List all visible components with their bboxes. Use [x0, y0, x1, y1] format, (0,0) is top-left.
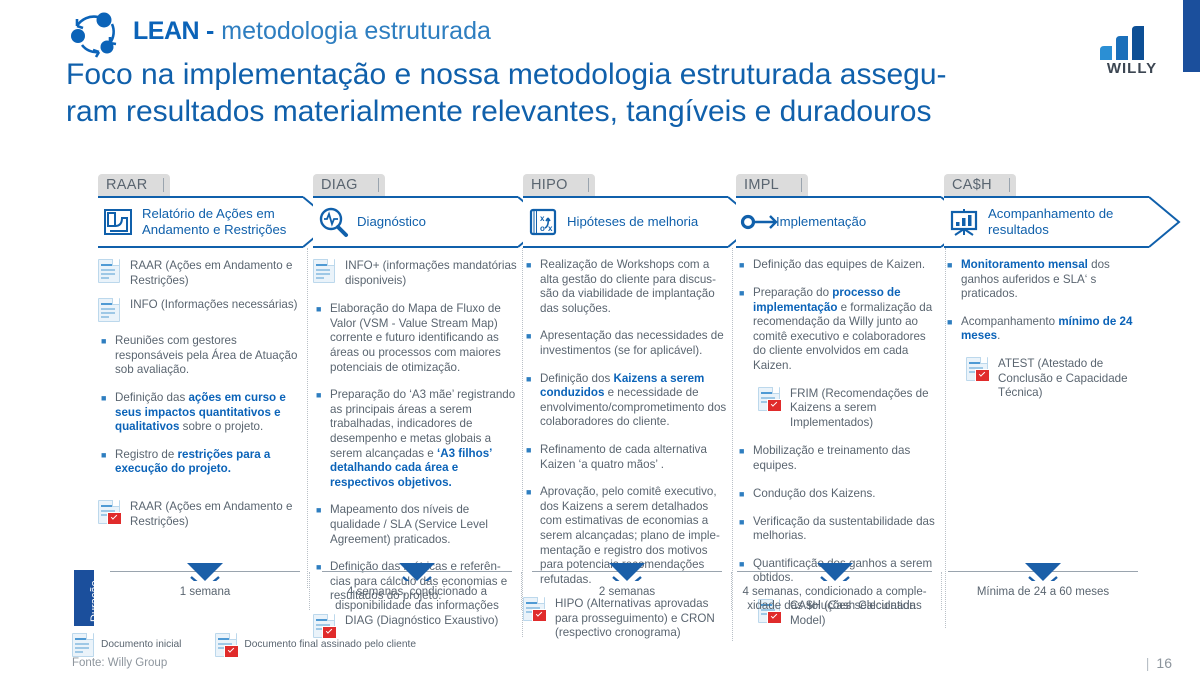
document-signed-icon	[758, 386, 782, 410]
phase-tab-hipo[interactable]: HIPO	[523, 174, 595, 196]
document-label: INFO (Informações necessárias)	[130, 297, 298, 313]
phase-heading: Acompanhamento de resultados	[988, 206, 1149, 237]
duration-divider	[309, 572, 310, 610]
duration-text: 4 semanas, condicionado a disponibilidad…	[322, 585, 512, 614]
document-item: INFO+ (informações mandatórias disponive…	[313, 258, 518, 288]
document-label: HIPO (Alternativas aprovadas para prosse…	[555, 596, 728, 641]
document-item: ATEST (Atestado de Conclusão e Capacidad…	[944, 356, 1149, 401]
duration-raar: 1 semana	[110, 566, 300, 599]
page-number-separator: |	[1146, 655, 1150, 671]
bullet-text: Verificação da sustentabilidade das melh…	[753, 515, 941, 544]
legend-item-final: Documento final assinado pelo cliente	[215, 632, 416, 656]
phase-heading: Diagnóstico	[357, 214, 426, 230]
chevron-down-icon	[187, 563, 223, 581]
bullet-item: ■ Mobilização e treinamento das equipes.	[736, 444, 941, 473]
duration-text: 1 semana	[110, 585, 300, 599]
document-item: FRIM (Recomendações de Kaizens a serem I…	[736, 386, 941, 431]
document-icon	[98, 297, 122, 321]
bullet-text: Definição das equipes de Kaizen.	[753, 258, 925, 273]
bullet-item: ■ Condução dos Kaizens.	[736, 487, 941, 502]
phase-header-impl: Implementação	[736, 196, 941, 248]
bullet-marker: ■	[736, 487, 753, 502]
lean-cycle-icon	[68, 12, 123, 58]
document-icon	[72, 632, 94, 656]
phase-header-raar: Relatório de Ações em Andamento e Restri…	[98, 196, 303, 248]
kicker-dash: -	[199, 17, 221, 45]
bullet-marker: ■	[736, 515, 753, 544]
bullet-text: Monitoramento mensal dos ganhos auferido…	[961, 258, 1149, 302]
chevron-down-icon	[817, 563, 853, 581]
duration-text: 2 semanas	[532, 585, 722, 599]
document-signed-icon	[523, 596, 547, 620]
svg-text:x: x	[540, 214, 545, 223]
document-label: DIAG (Diagnóstico Exaustivo)	[345, 613, 498, 629]
bullet-marker: ■	[98, 448, 115, 477]
bullet-text: Preparação do ‘A3 mãe’ registrando as pr…	[330, 388, 518, 490]
bullet-marker: ■	[523, 258, 540, 316]
phase-tab-raar[interactable]: RAAR	[98, 174, 170, 196]
document-signed-icon	[966, 356, 990, 380]
strategy-board-icon: x o x	[527, 206, 559, 238]
bullet-item: ■ Apresentação das necessidades de inves…	[523, 329, 728, 358]
kicker-light: metodologia estruturada	[221, 17, 491, 45]
report-icon	[102, 206, 134, 238]
bullet-marker: ■	[944, 258, 961, 302]
bullet-text: Registro de restrições para a execução d…	[115, 448, 303, 477]
bullet-item: ■ Elaboração do Mapa de Fluxo de Valor (…	[313, 302, 518, 375]
document-icon	[313, 258, 337, 282]
column-divider	[732, 248, 733, 641]
bullet-text: Mobilização e treinamento das equipes.	[753, 444, 941, 473]
document-label: FRIM (Recomendações de Kaizens a serem I…	[790, 386, 941, 431]
duration-text: Mínima de 24 a 60 meses	[948, 585, 1138, 599]
phase-body-cash: ■ Monitoramento mensal dos ganhos auferi…	[944, 248, 1149, 588]
duration-divider	[941, 572, 942, 610]
bullet-text: Condução dos Kaizens.	[753, 487, 875, 502]
svg-text:WILLY: WILLY	[1107, 60, 1157, 76]
svg-text:x: x	[548, 224, 553, 233]
implementation-arrow-icon	[740, 206, 772, 238]
duration-cash: Mínima de 24 a 60 meses	[948, 566, 1138, 599]
results-chart-icon	[948, 206, 980, 238]
document-item: RAAR (Ações em Andamento e Restrições)	[98, 499, 303, 529]
phase-columns: RAAR Relatório de Ações em Andamento e R…	[0, 174, 1200, 574]
slide: LEAN - metodologia estruturada Foco na i…	[0, 0, 1200, 675]
bullet-text: Apresentação das necessidades de investi…	[540, 329, 728, 358]
column-divider	[307, 248, 308, 588]
bullet-text: Refinamento de cada alternativa Kaizen ‘…	[540, 443, 728, 472]
bullet-item: ■ Definição das equipes de Kaizen.	[736, 258, 941, 273]
bullet-marker: ■	[523, 329, 540, 358]
duration-divider	[521, 572, 522, 610]
document-item: INFO (Informações necessárias)	[98, 297, 303, 321]
bullet-marker: ■	[944, 315, 961, 344]
corner-accent-bar	[1183, 0, 1200, 72]
title-line-2: ram resultados materialmente relevantes,…	[66, 94, 1096, 131]
bullet-item: ■ Acompanhamento mínimo de 24 meses.	[944, 315, 1149, 344]
document-label: RAAR (Ações em Andamento e Restrições)	[130, 499, 303, 529]
bullet-text: Acompanhamento mínimo de 24 meses.	[961, 315, 1149, 344]
chevron-down-icon	[399, 563, 435, 581]
phase-header-cash: Acompanhamento de resultados	[944, 196, 1149, 248]
svg-text:o: o	[540, 224, 545, 233]
page-number: |16	[1146, 655, 1172, 671]
bullet-item: ■ Refinamento de cada alternativa Kaizen…	[523, 443, 728, 472]
bullet-text: Preparação do processo de implementação …	[753, 286, 941, 374]
willy-logo: WILLY	[1092, 18, 1172, 76]
phase-tab-impl[interactable]: IMPL	[736, 174, 808, 196]
bullet-marker: ■	[736, 258, 753, 273]
bullet-text: Mapeamento dos níveis de qualidade / SLA…	[330, 503, 518, 547]
duration-divider	[731, 572, 732, 610]
page-title: Foco na implementação e nossa metodologi…	[66, 57, 1096, 130]
bullet-text: Definição dos Kaizens a serem conduzidos…	[540, 372, 728, 430]
bullet-marker: ■	[98, 391, 115, 435]
bullet-text: Reuniões com gestores responsáveis pela …	[115, 334, 303, 378]
diagnostic-magnifier-icon	[317, 206, 349, 238]
duration-diag: 4 semanas, condicionado a disponibilidad…	[322, 566, 512, 614]
document-signed-icon	[98, 499, 122, 523]
bullet-text: Definição das ações em curso e seus impa…	[115, 391, 303, 435]
phase-arrow-icon	[1149, 196, 1183, 248]
duration-hipo: 2 semanas	[532, 566, 722, 599]
bullet-marker: ■	[736, 286, 753, 374]
phase-column-cash: CA$H Acompanhamento de result	[944, 174, 1149, 588]
phase-body-raar: RAAR (Ações em Andamento e Restrições) I…	[98, 248, 303, 588]
bullet-marker: ■	[313, 388, 330, 490]
duration-impl: 4 semanas, condicionado a comple-xidade …	[737, 566, 932, 614]
bullet-item: ■ Verificação da sustentabilidade das me…	[736, 515, 941, 544]
phase-tab-label: IMPL	[744, 177, 779, 193]
document-signed-icon	[215, 632, 237, 656]
bullet-item: ■ Reuniões com gestores responsáveis pel…	[98, 334, 303, 378]
source-note: Fonte: Willy Group	[72, 657, 167, 669]
bullet-marker: ■	[313, 503, 330, 547]
phase-column-raar: RAAR Relatório de Ações em Andamento e R…	[98, 174, 303, 588]
bullet-item: ■ Registro de restrições para a execução…	[98, 448, 303, 477]
bullet-marker: ■	[523, 372, 540, 430]
phase-tab-diag[interactable]: DIAG	[313, 174, 385, 196]
bullet-item: ■ Definição das ações em curso e seus im…	[98, 391, 303, 435]
phase-heading: Implementação	[776, 214, 866, 230]
phase-tab-label: RAAR	[106, 177, 148, 193]
bullet-item: ■ Monitoramento mensal dos ganhos auferi…	[944, 258, 1149, 302]
legend-label: Documento inicial	[101, 639, 181, 650]
document-icon	[98, 258, 122, 282]
document-item: HIPO (Alternativas aprovadas para prosse…	[523, 596, 728, 641]
phase-header-hipo: x o x Hipóteses de melhoria	[523, 196, 728, 248]
phase-heading: Relatório de Ações em Andamento e Restri…	[142, 206, 303, 237]
bullet-item: ■ Mapeamento dos níveis de qualidade / S…	[313, 503, 518, 547]
legend: Documento inicial Documento final assina…	[72, 632, 450, 656]
bullet-item: ■ Preparação do ‘A3 mãe’ registrando as …	[313, 388, 518, 490]
duration-label: Duração	[74, 570, 94, 626]
bullet-marker: ■	[736, 444, 753, 473]
legend-item-initial: Documento inicial	[72, 632, 181, 656]
bullet-marker: ■	[523, 443, 540, 472]
phase-header-diag: Diagnóstico	[313, 196, 518, 248]
phase-tab-cash[interactable]: CA$H	[944, 174, 1016, 196]
bullet-text: Elaboração do Mapa de Fluxo de Valor (VS…	[330, 302, 518, 375]
chevron-down-icon	[609, 563, 645, 581]
phase-tab-label: CA$H	[952, 177, 992, 193]
bullet-item: ■ Definição dos Kaizens a serem conduzid…	[523, 372, 728, 430]
document-label: INFO+ (informações mandatórias disponive…	[345, 258, 518, 288]
bullet-item: ■ Preparação do processo de implementaçã…	[736, 286, 941, 374]
phase-tab-label: HIPO	[531, 177, 568, 193]
document-item: RAAR (Ações em Andamento e Restrições)	[98, 258, 303, 288]
document-label: RAAR (Ações em Andamento e Restrições)	[130, 258, 303, 288]
phase-heading: Hipóteses de melhoria	[567, 214, 698, 230]
duration-text: 4 semanas, condicionado a comple-xidade …	[737, 585, 932, 614]
chevron-down-icon	[1025, 563, 1061, 581]
document-label: ATEST (Atestado de Conclusão e Capacidad…	[998, 356, 1149, 401]
bullet-item: ■ Realização de Workshops com a alta ges…	[523, 258, 728, 316]
title-line-1: Foco na implementação e nossa metodologi…	[66, 57, 1096, 94]
bullet-marker: ■	[98, 334, 115, 378]
bullet-marker: ■	[313, 302, 330, 375]
kicker-bold: LEAN	[133, 17, 199, 45]
legend-label: Documento final assinado pelo cliente	[244, 639, 416, 650]
kicker: LEAN - metodologia estruturada	[133, 17, 491, 46]
phase-tab-label: DIAG	[321, 177, 358, 193]
duration-label-text: Duração	[89, 580, 101, 622]
bullet-text: Realização de Workshops com a alta gestã…	[540, 258, 728, 316]
page-number-value: 16	[1156, 655, 1172, 671]
